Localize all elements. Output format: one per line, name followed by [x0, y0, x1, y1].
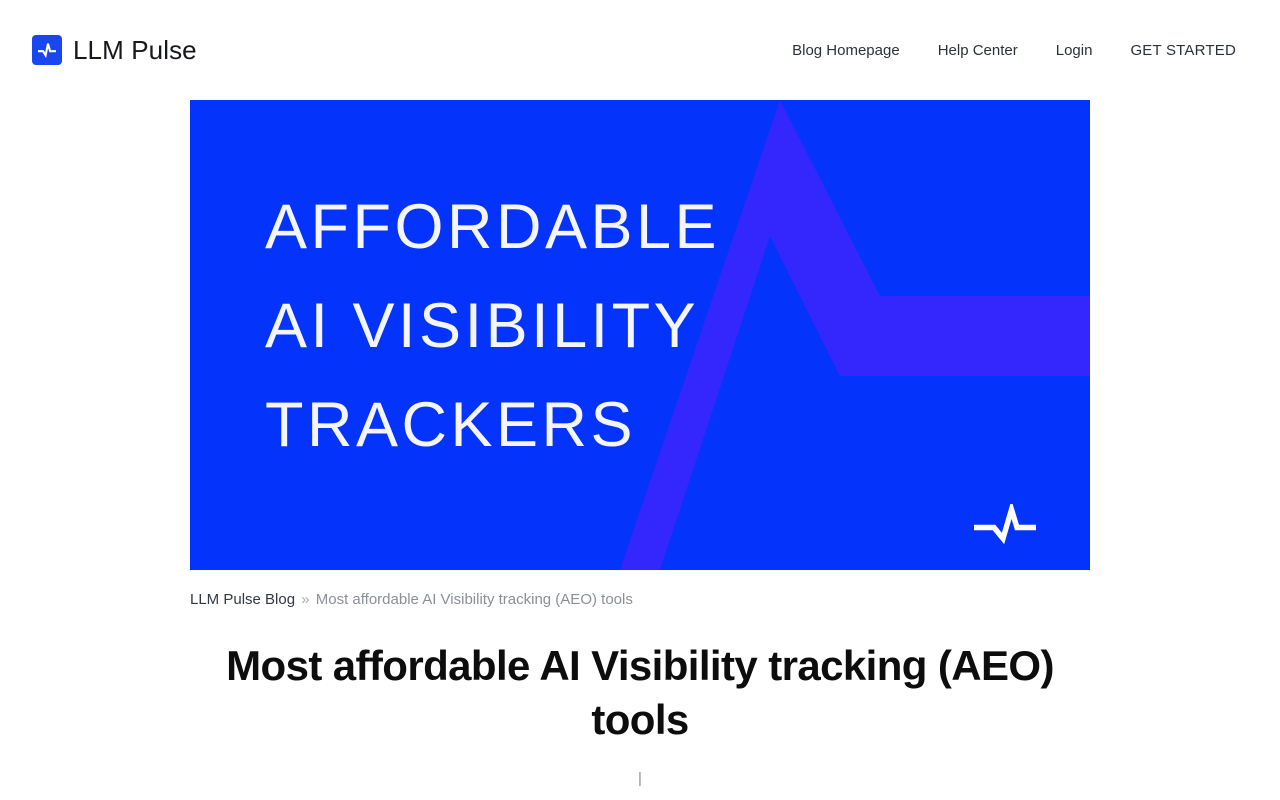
hero-title: Affordable AI Visibility Trackers — [265, 178, 1025, 475]
hero-banner: Affordable AI Visibility Trackers — [190, 100, 1090, 570]
article-main: Affordable AI Visibility Trackers LLM Pu… — [190, 100, 1090, 789]
nav-help-center[interactable]: Help Center — [938, 36, 1018, 65]
main-nav: Blog Homepage Help Center Login GET STAR… — [792, 36, 1236, 65]
nav-get-started[interactable]: GET STARTED — [1130, 36, 1236, 65]
breadcrumb-separator: » — [299, 591, 311, 608]
pulse-logo-icon — [32, 35, 62, 65]
post-meta: | — [190, 769, 1090, 789]
nav-login[interactable]: Login — [1056, 36, 1093, 65]
breadcrumb-current: Most affordable AI Visibility tracking (… — [316, 591, 633, 608]
nav-blog-homepage[interactable]: Blog Homepage — [792, 36, 900, 65]
site-header: LLM Pulse Blog Homepage Help Center Logi… — [0, 0, 1280, 100]
brand-logo-link[interactable]: LLM Pulse — [32, 35, 197, 66]
breadcrumb-root-link[interactable]: LLM Pulse Blog — [190, 591, 295, 608]
brand-name: LLM Pulse — [73, 35, 197, 66]
breadcrumb: LLM Pulse Blog » Most affordable AI Visi… — [190, 590, 1090, 610]
page-title: Most affordable AI Visibility tracking (… — [190, 639, 1090, 747]
pulse-waveform-icon — [972, 504, 1038, 544]
